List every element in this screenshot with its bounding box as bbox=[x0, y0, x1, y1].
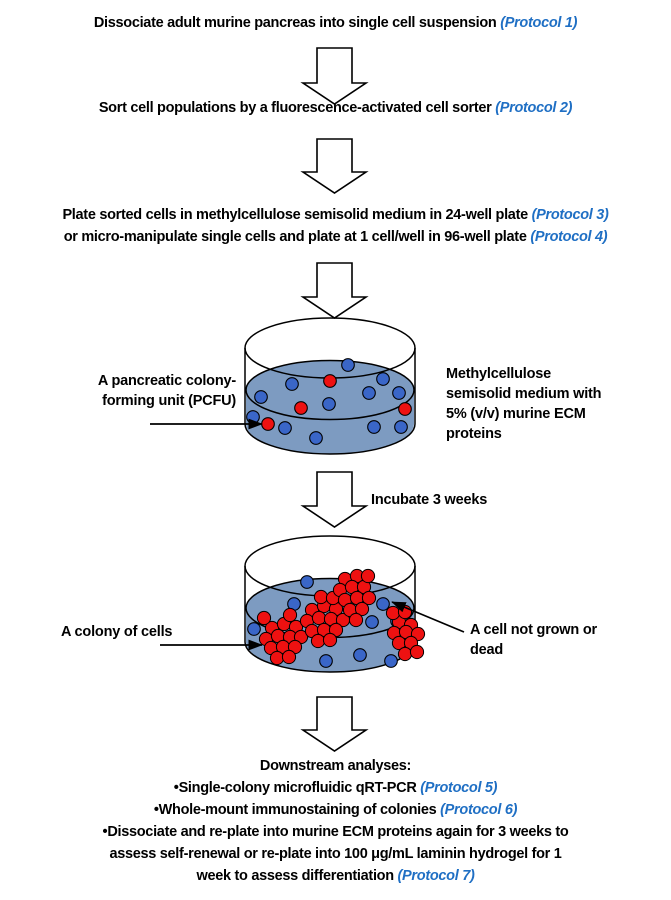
flow-arrow-4-incubate bbox=[303, 472, 366, 527]
petri-dish-colonies bbox=[245, 536, 425, 672]
colony-cluster-2 bbox=[300, 590, 349, 647]
step-3a-label: Plate sorted cells in methylcellulose se… bbox=[62, 207, 527, 223]
downstream-item-2-protocol: (Protocol 6) bbox=[440, 802, 517, 818]
flow-arrow-2 bbox=[303, 139, 366, 193]
step-2-label: Sort cell populations by a fluorescence-… bbox=[99, 100, 492, 116]
medium-annotation-line3: 5% (v/v) murine ECM bbox=[446, 404, 661, 424]
step-1-protocol: (Protocol 1) bbox=[500, 15, 577, 31]
pcfu-annotation-line1: A pancreatic colony- bbox=[36, 371, 236, 391]
dead-cell-annotation-line1: A cell not grown or bbox=[470, 620, 660, 640]
medium-surface-ellipse-2 bbox=[246, 579, 414, 638]
colony-cluster-3 bbox=[333, 569, 375, 626]
step-3b-text: or micro-manipulate single cells and pla… bbox=[0, 228, 671, 247]
downstream-item-3-line2-text: assess self-renewal or re-plate into 100… bbox=[109, 846, 561, 862]
diagram-canvas: Dissociate adult murine pancreas into si… bbox=[0, 0, 671, 900]
step-3a-protocol: (Protocol 3) bbox=[532, 207, 609, 223]
petri-dish-seeded bbox=[245, 318, 415, 454]
downstream-item-3-protocol: (Protocol 7) bbox=[398, 868, 475, 884]
medium-annotation-line1: Methylcellulose bbox=[446, 364, 661, 384]
colony-cluster-1 bbox=[257, 608, 307, 664]
step-1-text: Dissociate adult murine pancreas into si… bbox=[0, 14, 671, 33]
step-1-label: Dissociate adult murine pancreas into si… bbox=[94, 15, 497, 31]
step-2-text: Sort cell populations by a fluorescence-… bbox=[0, 99, 671, 118]
step-3b-protocol: (Protocol 4) bbox=[530, 229, 607, 245]
medium-annotation: Methylcellulose semisolid medium with 5%… bbox=[446, 364, 661, 444]
step-3a-text: Plate sorted cells in methylcellulose se… bbox=[0, 206, 671, 225]
downstream-item-3-line3-text: week to assess differentiation bbox=[197, 868, 394, 884]
downstream-item-3-line2: assess self-renewal or re-plate into 100… bbox=[0, 845, 671, 864]
dead-cell-annotation: A cell not grown or dead bbox=[470, 620, 660, 660]
downstream-item-3-line3: week to assess differentiation (Protocol… bbox=[0, 867, 671, 886]
colony-cluster-4 bbox=[386, 605, 424, 660]
downstream-item-1-text: Single-colony microfluidic qRT-PCR bbox=[179, 780, 417, 796]
flow-arrow-3 bbox=[303, 263, 366, 318]
dish-rim-ellipse bbox=[245, 318, 415, 378]
downstream-item-1: •Single-colony microfluidic qRT-PCR (Pro… bbox=[0, 779, 671, 798]
downstream-item-3-line1: •Dissociate and re-plate into murine ECM… bbox=[0, 823, 671, 842]
medium-surface-ellipse bbox=[246, 361, 414, 420]
pcfu-annotation-line2: forming unit (PCFU) bbox=[36, 391, 236, 411]
flow-arrow-5 bbox=[303, 697, 366, 751]
step-3b-label: or micro-manipulate single cells and pla… bbox=[64, 229, 527, 245]
ungrown-blue-cells bbox=[248, 576, 404, 668]
incubate-annotation-text: Incubate 3 weeks bbox=[371, 490, 487, 510]
seeded-blue-cells bbox=[247, 359, 408, 445]
downstream-item-2-text: Whole-mount immunostaining of colonies bbox=[159, 802, 437, 818]
dish-rim-ellipse-2 bbox=[245, 536, 415, 596]
pcfu-annotation: A pancreatic colony- forming unit (PCFU) bbox=[36, 371, 236, 411]
seeded-red-cells bbox=[262, 375, 412, 431]
flow-arrow-1 bbox=[303, 48, 366, 104]
medium-annotation-line2: semisolid medium with bbox=[446, 384, 661, 404]
downstream-heading-text: Downstream analyses: bbox=[260, 758, 411, 774]
dead-cell-pointer-arrow bbox=[392, 602, 464, 632]
colony-annotation: A colony of cells bbox=[61, 622, 172, 642]
downstream-item-1-protocol: (Protocol 5) bbox=[420, 780, 497, 796]
downstream-item-3-line1-text: •Dissociate and re-plate into murine ECM… bbox=[103, 824, 569, 840]
downstream-heading: Downstream analyses: bbox=[0, 757, 671, 776]
downstream-item-2: •Whole-mount immunostaining of colonies … bbox=[0, 801, 671, 820]
medium-annotation-line4: proteins bbox=[446, 424, 661, 444]
dead-cell-annotation-line2: dead bbox=[470, 640, 660, 660]
colony-annotation-text: A colony of cells bbox=[61, 622, 172, 642]
incubate-annotation: Incubate 3 weeks bbox=[371, 490, 487, 510]
step-2-protocol: (Protocol 2) bbox=[495, 100, 572, 116]
